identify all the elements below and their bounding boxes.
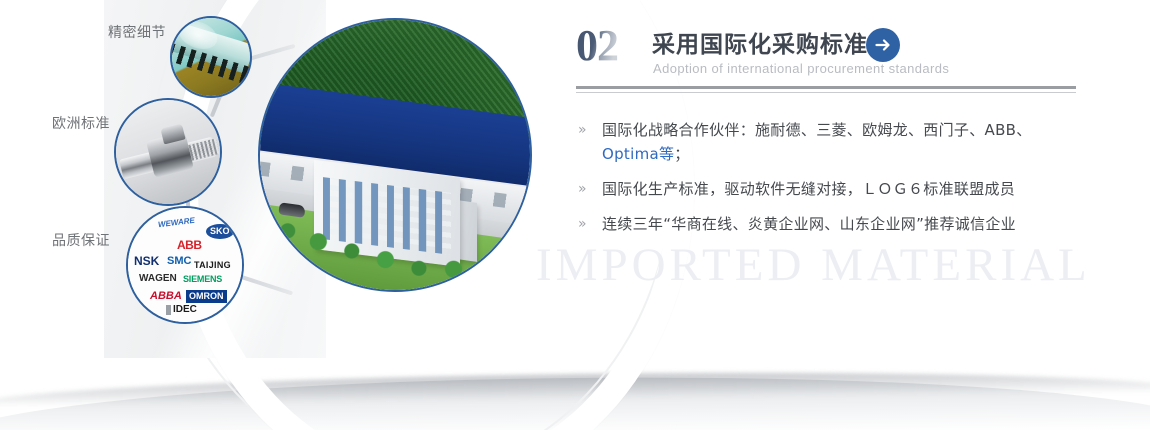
image-circle-factory-photo bbox=[258, 18, 532, 292]
watermark-text: IMPORTED MATERIAL bbox=[536, 238, 1136, 292]
section-number: 02 bbox=[576, 24, 618, 68]
brand-logo-abb: ABB bbox=[177, 239, 202, 251]
list-item-text: 连续三年“华商在线、炎黄企业网、山东企业网”推荐诚信企业 bbox=[602, 215, 1016, 233]
label-quality-guarantee: 品质保证 bbox=[52, 230, 110, 250]
image-circle-precision-detail bbox=[170, 16, 252, 98]
right-content: 02 采用国际化采购标准 Adoption of international p… bbox=[576, 0, 1096, 430]
brand-logo-idec: IDEC bbox=[166, 305, 197, 315]
list-item-text: 国际化战略合作伙伴：施耐德、三菱、欧姆龙、西门子、ABB、 bbox=[602, 121, 1032, 139]
arrow-right-circle-icon[interactable] bbox=[866, 28, 900, 62]
list-item: » 国际化战略合作伙伴：施耐德、三菱、欧姆龙、西门子、ABB、Optima等； bbox=[576, 118, 1086, 166]
brand-logo-omron: OMRON bbox=[186, 290, 227, 303]
brand-logo-sko: SKO bbox=[206, 224, 234, 239]
section-title-cn: 采用国际化采购标准 bbox=[652, 25, 868, 59]
bullet-list: » 国际化战略合作伙伴：施耐德、三菱、欧姆龙、西门子、ABB、Optima等； … bbox=[576, 118, 1086, 247]
label-european-standard: 欧洲标准 bbox=[52, 113, 110, 133]
bullet-marker-icon: » bbox=[578, 177, 587, 201]
brand-logo-wagen: WAGEN bbox=[139, 274, 177, 284]
list-item-highlight: Optima等 bbox=[602, 145, 674, 163]
image-circle-brand-logos: WEWARE SKO ABB NSK SMC TAIJING WAGEN SIE… bbox=[126, 206, 244, 324]
label-precision-detail: 精密细节 bbox=[108, 22, 166, 42]
bullet-marker-icon: » bbox=[578, 118, 587, 142]
list-item: » 连续三年“华商在线、炎黄企业网、山东企业网”推荐诚信企业 bbox=[576, 212, 1086, 236]
list-item-text: 国际化生产标准，驱动软件无缝对接，ＬＯＧ６标准联盟成员 bbox=[602, 180, 1015, 198]
brand-logo-smc: SMC bbox=[167, 256, 191, 267]
heading-divider-thin bbox=[576, 92, 1076, 93]
list-item-text-tail: ； bbox=[674, 145, 689, 163]
bullet-marker-icon: » bbox=[578, 212, 587, 236]
brand-logo-taijing: TAIJING bbox=[194, 261, 231, 270]
heading-divider-thick bbox=[576, 86, 1076, 89]
image-circle-european-standard bbox=[114, 98, 222, 206]
section-title-en: Adoption of international procurement st… bbox=[653, 61, 949, 76]
list-item: » 国际化生产标准，驱动软件无缝对接，ＬＯＧ６标准联盟成员 bbox=[576, 177, 1086, 201]
brand-logo-siemens: SIEMENS bbox=[183, 275, 222, 284]
brand-logo-nsk: NSK bbox=[134, 255, 159, 267]
brand-logo-abba: ABBA bbox=[150, 291, 182, 302]
page-stage: 精密细节 欧洲标准 品质保证 WEWARE SKO ABB NSK SMC TA… bbox=[0, 0, 1150, 430]
